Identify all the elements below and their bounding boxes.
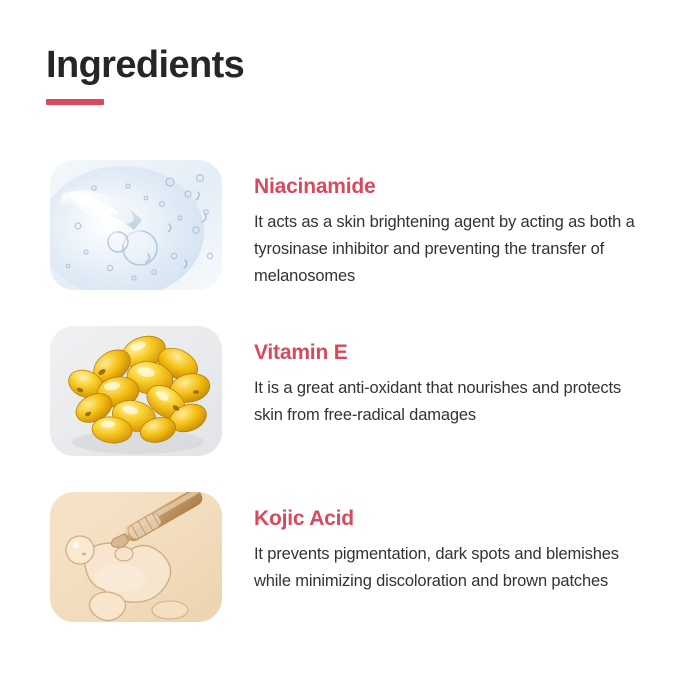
ingredient-name: Niacinamide	[254, 174, 672, 199]
ingredient-item-kojic-acid: Kojic Acid It prevents pigmentation, dar…	[0, 492, 700, 622]
ingredient-name: Kojic Acid	[254, 506, 672, 531]
kojic-acid-serum-dropper-photo	[50, 492, 222, 622]
ingredient-item-vitamin-e: Vitamin E It is a great anti-oxidant tha…	[0, 326, 700, 456]
ingredient-text-block: Niacinamide It acts as a skin brightenin…	[222, 160, 700, 289]
ingredients-page: Ingredients	[0, 0, 700, 700]
ingredient-name: Vitamin E	[254, 340, 672, 365]
ingredient-text-block: Vitamin E It is a great anti-oxidant tha…	[222, 326, 700, 429]
softgel-capsules-illustration	[50, 326, 222, 456]
ingredient-description: It is a great anti-oxidant that nourishe…	[254, 375, 646, 428]
ingredient-description: It prevents pigmentation, dark spots and…	[254, 541, 646, 594]
serum-gel-bubbles-photo	[50, 160, 222, 290]
page-title: Ingredients	[46, 45, 244, 87]
page-header: Ingredients	[46, 45, 244, 105]
ingredient-text-block: Kojic Acid It prevents pigmentation, dar…	[222, 492, 700, 595]
vitamin-e-softgel-capsules-photo	[50, 326, 222, 456]
ingredient-list: Niacinamide It acts as a skin brightenin…	[0, 160, 700, 658]
serum-dropper-illustration	[50, 492, 222, 622]
ingredient-item-niacinamide: Niacinamide It acts as a skin brightenin…	[0, 160, 700, 290]
title-underline-accent	[46, 99, 104, 105]
ingredient-description: It acts as a skin brightening agent by a…	[254, 209, 646, 289]
serum-gel-illustration	[50, 160, 222, 290]
